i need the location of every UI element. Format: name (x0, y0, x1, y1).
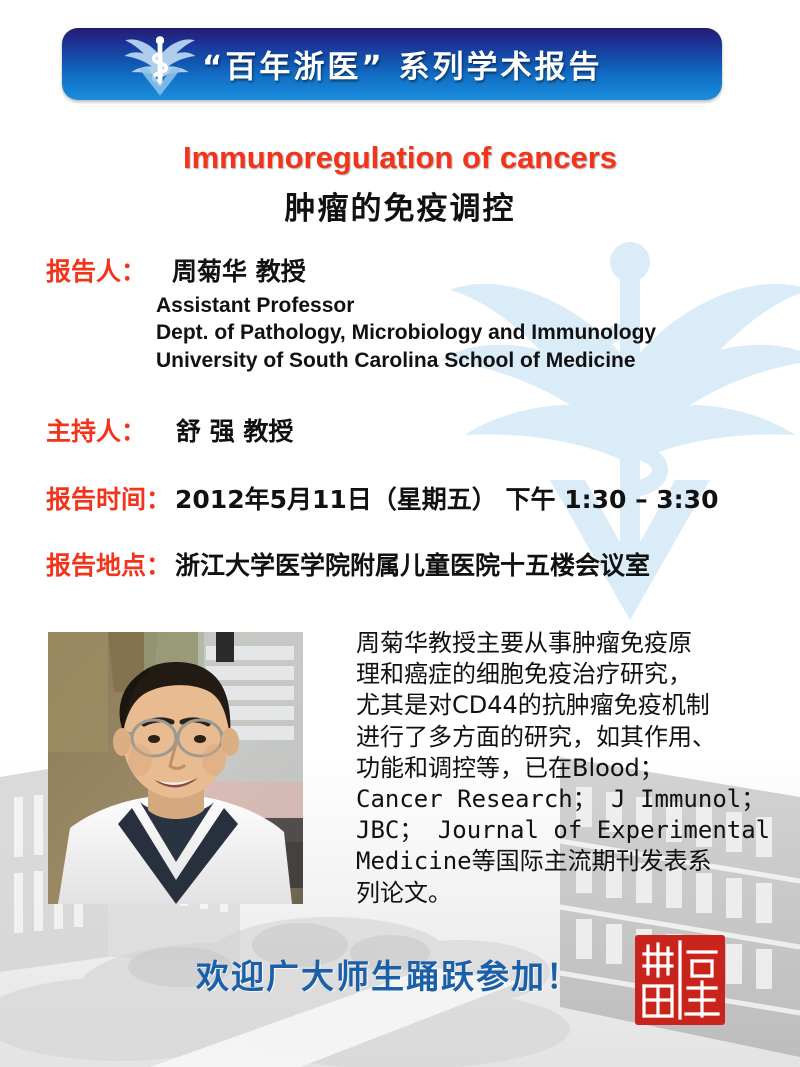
bio-line-6: Cancer Research； J Immunol； (356, 784, 776, 815)
affiliation-line-2: Dept. of Pathology, Microbiology and Imm… (156, 319, 786, 346)
caduceus-icon (124, 32, 196, 98)
affiliation-line-3: University of South Carolina School of M… (156, 347, 786, 374)
header-banner: “百年浙医” 系列学术报告 (62, 28, 722, 100)
bio-line-5: 功能和调控等，已在Blood； (356, 753, 776, 784)
speaker-row: 报告人： 周菊华 教授 (46, 252, 786, 288)
host-name: 舒 强 教授 (176, 412, 293, 448)
time-label: 报告时间： (46, 480, 171, 516)
bio-line-1: 周菊华教授主要从事肿瘤免疫原 (356, 628, 776, 659)
bio-line-2: 理和癌症的细胞免疫治疗研究， (356, 659, 776, 690)
speaker-name: 周菊华 教授 (172, 252, 306, 288)
event-info-block: 报告人： 周菊华 教授 Assistant Professor Dept. of… (46, 252, 786, 582)
host-row: 主持人： 舒 强 教授 (46, 412, 786, 448)
bainian-zheyi-seal (634, 934, 726, 1026)
bio-line-4: 进行了多方面的研究，如其作用、 (356, 722, 776, 753)
affiliation-line-1: Assistant Professor (156, 292, 786, 319)
welcome-message: 欢迎广大师生踊跃参加！ (196, 950, 581, 998)
place-value: 浙江大学医学院附属儿童医院十五楼会议室 (175, 546, 650, 582)
poster-title-english: Immunoregulation of cancers (0, 140, 800, 176)
speaker-label: 报告人： (46, 252, 146, 288)
time-value: 2012年5月11日（星期五） 下午 1:30 – 3:30 (175, 480, 718, 516)
speaker-affiliation: Assistant Professor Dept. of Pathology, … (156, 292, 786, 374)
poster-title-chinese: 肿瘤的免疫调控 (0, 183, 800, 228)
speaker-bio: 周菊华教授主要从事肿瘤免疫原 理和癌症的细胞免疫治疗研究， 尤其是对CD44的抗… (356, 628, 776, 909)
bio-line-9: 列论文。 (356, 878, 776, 909)
speaker-photo (48, 632, 303, 904)
bio-line-7: JBC； Journal of Experimental (356, 815, 776, 846)
host-label: 主持人： (46, 412, 146, 448)
bio-line-3: 尤其是对CD44的抗肿瘤免疫机制 (356, 690, 776, 721)
place-row: 报告地点： 浙江大学医学院附属儿童医院十五楼会议室 (46, 546, 786, 582)
seminar-poster: “百年浙医” 系列学术报告 Immunoregulation of cancer… (0, 0, 800, 1067)
bio-line-8: Medicine等国际主流期刊发表系 (356, 846, 776, 877)
banner-title: “百年浙医” 系列学术报告 (202, 42, 603, 87)
place-label: 报告地点： (46, 546, 171, 582)
time-row: 报告时间： 2012年5月11日（星期五） 下午 1:30 – 3:30 (46, 480, 786, 516)
